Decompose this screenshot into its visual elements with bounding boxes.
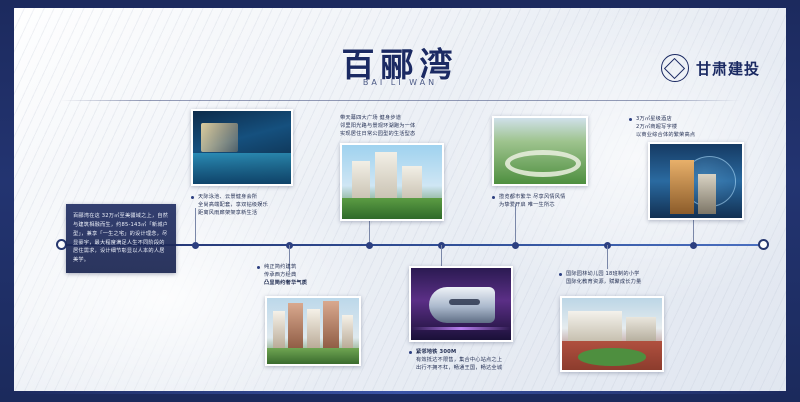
timeline-stem: [515, 204, 516, 242]
school-sports-field-photo: [560, 296, 664, 372]
caption-line: 为挚爱开启 唯一生所芯: [499, 201, 609, 209]
timeline-node: [366, 242, 373, 249]
caption-line: 以商业综合体的繁荣高点: [636, 131, 756, 139]
residential-towers-photo: [340, 143, 444, 221]
caption-line: 纯正简约建筑: [264, 263, 374, 271]
caption-line: 国际园林幼儿园 18班制的小学: [566, 270, 686, 278]
green-park-photo: [492, 116, 588, 186]
timeline-stem: [441, 245, 442, 267]
timeline-stem: [607, 245, 608, 269]
poster-board: 百郦湾 BAI LI WAN 甘肃建投 百郦湾在这 32万㎡至美疆域之上，自然与…: [14, 8, 786, 394]
caption-line: 国际化教育资源，赋聚成长力量: [566, 278, 686, 286]
timeline-end-marker: [758, 239, 769, 250]
diamond-in-circle-logo-icon: [661, 54, 689, 82]
caption-line: 传承西方经典: [264, 271, 374, 279]
caption-line: 邻里阳光路与景观环湖跑为一体: [340, 122, 460, 130]
caption-line: 有效抵达不限售，集合中心站点之上: [416, 356, 536, 364]
card-park-caption: 揽览都市繁华 尽享风情风情 为挚爱开启 唯一生所芯: [492, 193, 609, 209]
night-pool-photo: [191, 109, 293, 186]
description-panel: 百郦湾在这 32万㎡至美疆域之上，自然与建筑相融而生，约85-143㎡「新城户型…: [66, 204, 176, 273]
caption-line: 出行不拥不杠，畅通王国，畅达全城: [416, 364, 536, 372]
card-school-caption: 国际园林幼儿园 18班制的小学 国际化教育资源，赋聚成长力量: [559, 270, 686, 286]
footer-bar: [14, 391, 786, 394]
caption-line: 实现居住日常公园型的生活型态: [340, 130, 460, 138]
timeline-node: [512, 242, 519, 249]
caption-line: 距离风雨廊架架享新生活: [198, 209, 308, 217]
caption-line: 带天幕四大广场 健身步道: [340, 114, 460, 122]
timeline-node: [690, 242, 697, 249]
card-metro-caption: 紧邻地铁 300M 有效抵达不限售，集合中心站点之上 出行不拥不杠，畅通王国，畅…: [409, 348, 536, 372]
poster-root: 百郦湾 BAI LI WAN 甘肃建投 百郦湾在这 32万㎡至美疆域之上，自然与…: [0, 0, 800, 402]
card-pool-caption: 天际泳池、云景健身会所 全尚高端配套，享双钻级娱乐 距离风雨廊架架享新生活: [191, 193, 308, 217]
timeline-node: [192, 242, 199, 249]
card-render-caption: 3万㎡星级酒店 2万㎡商超写字楼 以商业综合体的繁荣高点: [629, 115, 756, 139]
caption-line: 3万㎡星级酒店: [636, 115, 756, 123]
caption-line: 揽览都市繁华 尽享风情风情: [499, 193, 609, 201]
caption-line: 凸显简约奢华气质: [264, 279, 374, 287]
red-white-towers-photo: [265, 296, 361, 366]
caption-line: 2万㎡商超写字楼: [636, 123, 756, 131]
caption-line: 紧邻地铁 300M: [416, 348, 536, 356]
brand-name: 甘肃建投: [696, 58, 760, 79]
architecture-render-photo: [648, 142, 744, 220]
card-facade-caption: 纯正简约建筑 传承西方经典 凸显简约奢华气质: [257, 263, 374, 287]
header-divider: [60, 100, 740, 101]
brand-logo: 甘肃建投: [661, 54, 760, 82]
metro-train-photo: [409, 266, 513, 342]
caption-line: 全尚高端配套，享双钻级娱乐: [198, 201, 308, 209]
card-plaza-caption: 带天幕四大广场 健身步道 邻里阳光路与景观环湖跑为一体 实现居住日常公园型的生活…: [340, 114, 460, 138]
caption-line: 天际泳池、云景健身会所: [198, 193, 308, 201]
